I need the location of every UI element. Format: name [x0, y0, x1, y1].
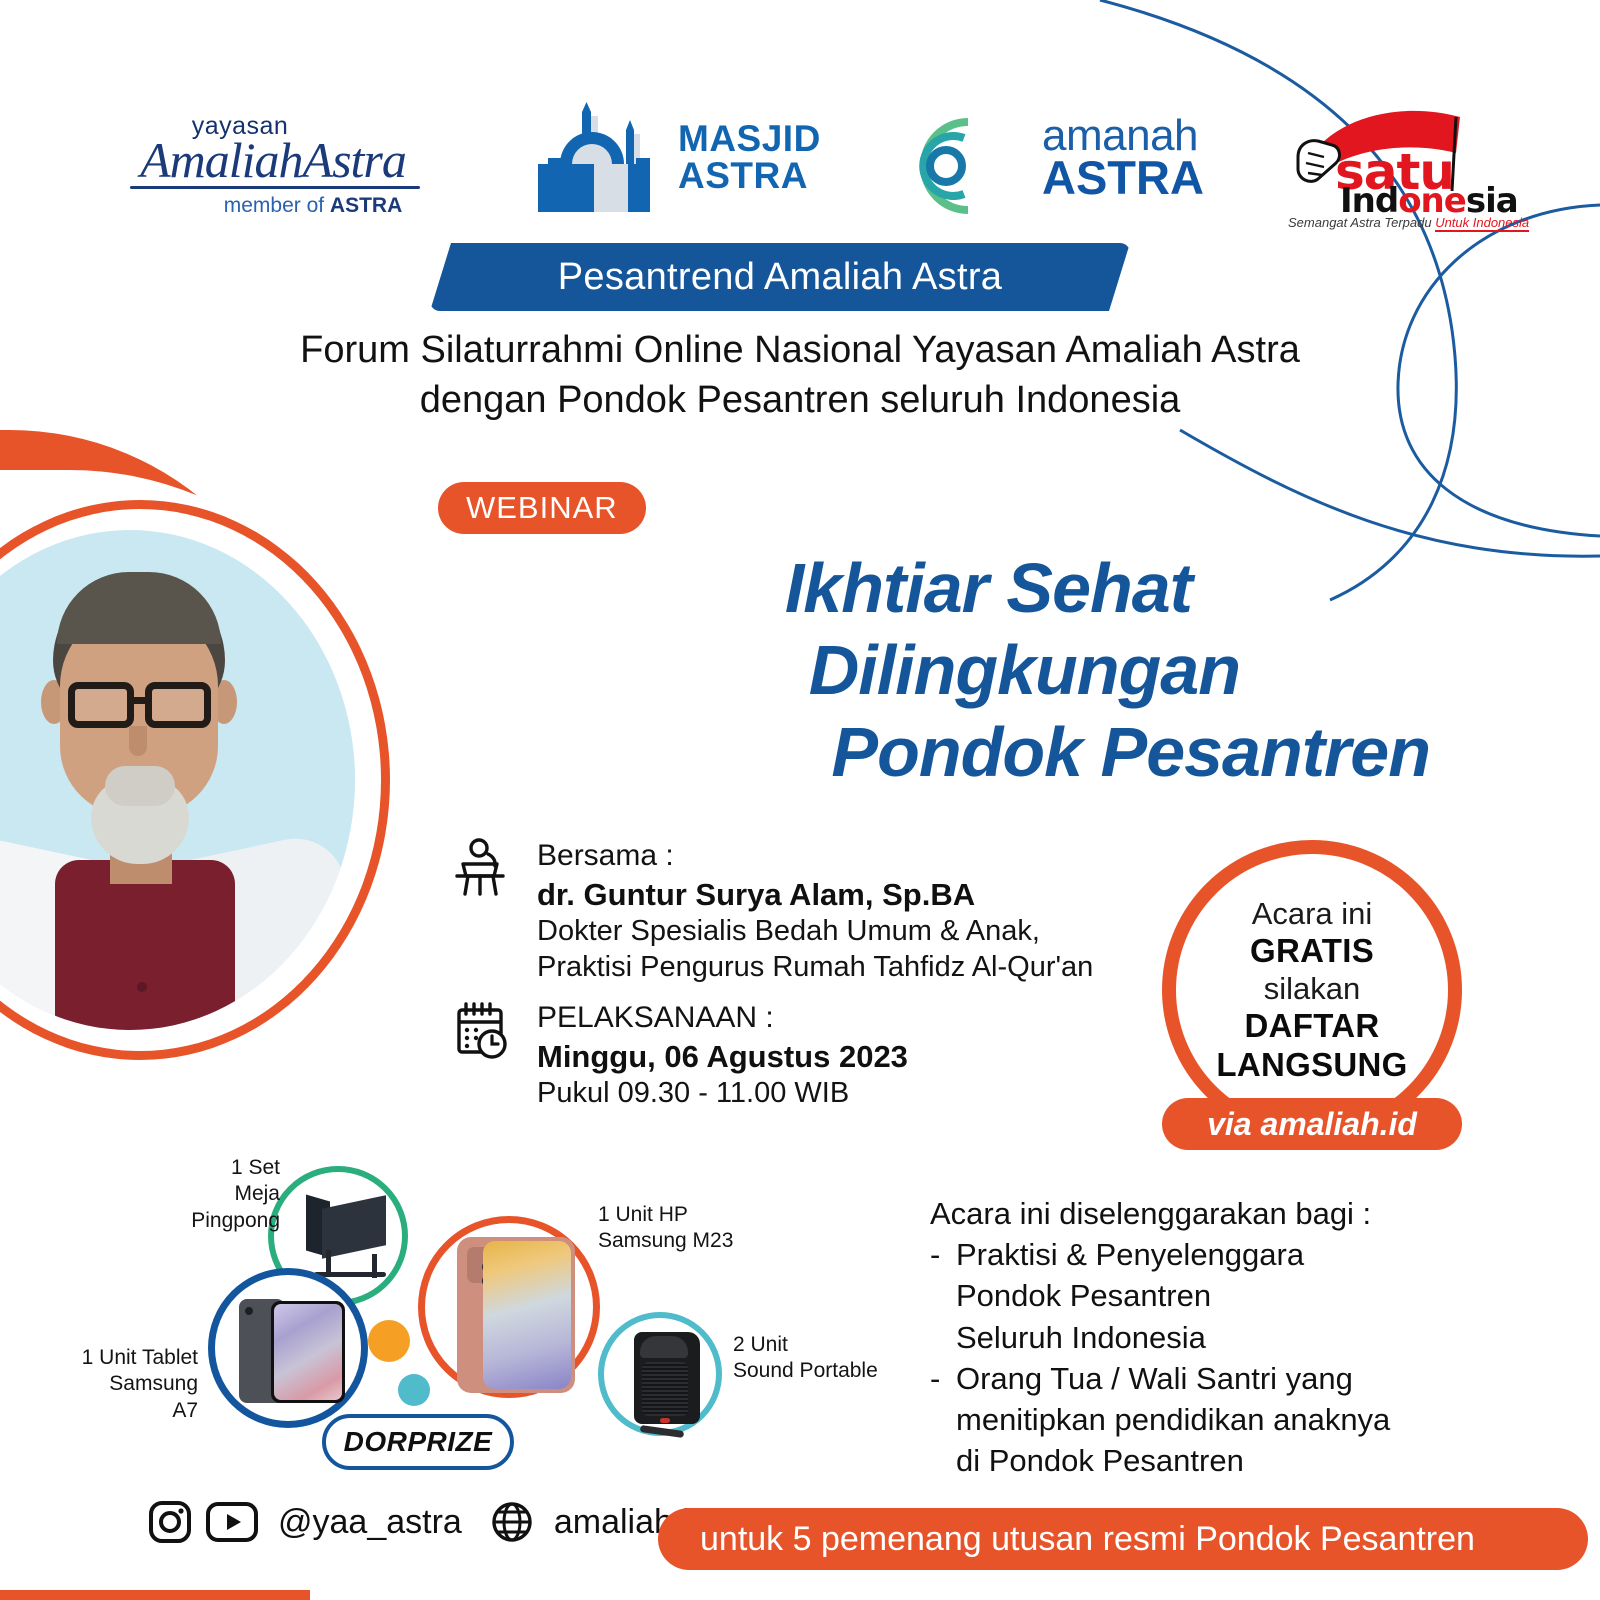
speaker-intro: Bersama : [537, 838, 1093, 875]
logo-amanah-text: amanah ASTRA [1042, 114, 1204, 201]
prize-image-tablet [208, 1268, 368, 1428]
logo-satu-tagline: Semangat Astra Terpadu Untuk Indonesia [1288, 215, 1529, 230]
footer-note-banner: untuk 5 pemenang utusan resmi Pondok Pes… [658, 1508, 1588, 1570]
event-title-line-2: Dilingkungan [470, 630, 1430, 712]
subheadline: Forum Silaturrahmi Online Nasional Yayas… [150, 325, 1450, 425]
logo-yayasan-member-line: member of ASTRA [188, 194, 438, 218]
prize-label-phone: 1 Unit HP Samsung M23 [598, 1202, 778, 1255]
event-title: Ikhtiar Sehat Dilingkungan Pondok Pesant… [470, 548, 1430, 794]
registration-line-2: GRATIS [1250, 932, 1374, 971]
registration-line-4: DAFTAR [1245, 1007, 1380, 1046]
registration-via-pill[interactable]: via amaliah.id [1162, 1098, 1462, 1150]
registration-line-3: silakan [1264, 971, 1361, 1007]
schedule-time: Pukul 09.30 - 11.00 WIB [537, 1076, 908, 1112]
event-title-line-1: Ikhtiar Sehat [470, 548, 1430, 630]
schedule-detail-text: PELAKSANAAN : Minggu, 06 Agustus 2023 Pu… [537, 1000, 908, 1112]
speaker-portrait-illustration [0, 530, 355, 1030]
logo-yayasan-amaliah-astra: yayasan AmaliahAstra member of ASTRA [108, 112, 438, 218]
audience-heading: Acara ini diselenggarakan bagi : [930, 1193, 1510, 1234]
speaker-detail-row: Bersama : dr. Guntur Surya Alam, Sp.BA D… [455, 838, 1093, 986]
event-title-line-3: Pondok Pesantren [470, 712, 1430, 794]
pingpong-table-icon [296, 1198, 392, 1278]
prize-label-speaker: 2 Unit Sound Portable [733, 1332, 913, 1385]
audience-block: Acara ini diselenggarakan bagi : - Prakt… [930, 1193, 1510, 1482]
instagram-icon[interactable] [148, 1500, 192, 1544]
program-banner: Pesantrend Amaliah Astra [430, 243, 1130, 311]
footer-social-row: @yaa_astra amaliah.id [148, 1500, 709, 1544]
logo-satu-indonesia: satu Indonesia Semangat Astra Terpadu Un… [1280, 95, 1500, 225]
subheadline-line-1: Forum Silaturrahmi Online Nasional Yayas… [150, 325, 1450, 375]
podium-icon [455, 838, 511, 986]
portable-speaker-icon [634, 1332, 700, 1424]
audience-item-text: Orang Tua / Wali Santri yang menitipkan … [956, 1358, 1390, 1482]
social-handle[interactable]: @yaa_astra [278, 1503, 462, 1542]
speaker-photo [0, 530, 355, 1030]
subheadline-line-2: dengan Pondok Pesantren seluruh Indonesi… [150, 375, 1450, 425]
concentric-rings-icon [890, 110, 1010, 222]
logo-masjid-astra: MASJID ASTRA [530, 102, 820, 227]
prize-image-phone [418, 1216, 600, 1398]
doorprize-badge: DORPRIZE [322, 1414, 514, 1470]
decorative-dot-teal [398, 1374, 430, 1406]
youtube-icon[interactable] [206, 1502, 258, 1542]
audience-item-text: Praktisi & Penyelenggara Pondok Pesantre… [956, 1234, 1304, 1358]
phone-screen-icon [483, 1241, 571, 1389]
decorative-dot-orange [368, 1320, 410, 1362]
globe-icon[interactable] [490, 1500, 534, 1544]
calendar-clock-icon [455, 1000, 511, 1112]
schedule-date: Minggu, 06 Agustus 2023 [537, 1037, 908, 1077]
logo-yayasan-name: AmaliahAstra [108, 137, 438, 185]
speaker-detail-text: Bersama : dr. Guntur Surya Alam, Sp.BA D… [537, 838, 1093, 986]
audience-item: - Orang Tua / Wali Santri yang menitipka… [930, 1358, 1510, 1482]
logo-row: yayasan AmaliahAstra member of ASTRA [0, 40, 1600, 200]
registration-badge: Acara ini GRATIS silakan DAFTAR LANGSUNG [1162, 840, 1462, 1140]
webinar-badge: WEBINAR [438, 482, 646, 534]
speaker-role-line-2: Praktisi Pengurus Rumah Tahfidz Al-Qur'a… [537, 950, 1093, 986]
tablet-camera-icon [245, 1307, 253, 1315]
logo-masjid-text: MASJID ASTRA [678, 120, 821, 194]
program-banner-label: Pesantrend Amaliah Astra [558, 256, 1002, 299]
registration-line-1: Acara ini [1252, 896, 1373, 932]
mosque-icon [530, 102, 670, 220]
prize-image-speaker [598, 1312, 722, 1436]
audience-item: - Praktisi & Penyelenggara Pondok Pesant… [930, 1234, 1510, 1358]
speaker-role-line-1: Dokter Spesialis Bedah Umum & Anak, [537, 914, 1093, 950]
speaker-name: dr. Guntur Surya Alam, Sp.BA [537, 875, 1093, 915]
registration-line-5: LANGSUNG [1216, 1046, 1407, 1085]
audience-dash: - [930, 1358, 944, 1482]
prize-label-tablet: 1 Unit Tablet Samsung A7 [80, 1345, 198, 1424]
footer-note-text: untuk 5 pemenang utusan resmi Pondok Pes… [700, 1520, 1475, 1559]
tablet-front-icon [271, 1301, 345, 1403]
schedule-detail-row: PELAKSANAAN : Minggu, 06 Agustus 2023 Pu… [455, 1000, 908, 1112]
prize-label-pingpong: 1 Set Meja Pingpong [150, 1155, 280, 1234]
schedule-label: PELAKSANAAN : [537, 1000, 908, 1037]
audience-dash: - [930, 1234, 944, 1358]
poster-canvas: yayasan AmaliahAstra member of ASTRA [0, 0, 1600, 1600]
logo-amanah-astra: amanah ASTRA [890, 110, 1170, 225]
